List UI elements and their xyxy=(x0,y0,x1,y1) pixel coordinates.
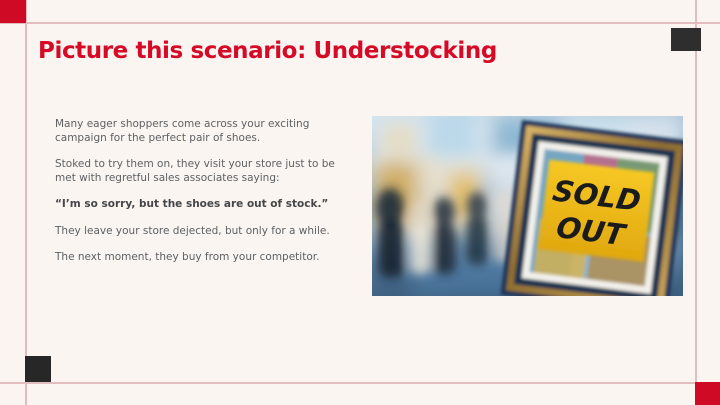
paragraph-1: Many eager shoppers come across your exc… xyxy=(55,118,350,145)
paragraph-4: They leave your store dejected, but only… xyxy=(55,225,350,239)
sold-out-sign-photo: SOLD OUT xyxy=(372,116,683,296)
corner-block-red-bottom-right xyxy=(695,382,720,405)
slide-title: Picture this scenario: Understocking xyxy=(38,38,497,64)
corner-block-red-top-left xyxy=(0,0,26,23)
frame-line-right xyxy=(695,0,697,405)
corner-block-dark-bottom-left xyxy=(25,356,51,382)
paragraph-5: The next moment, they buy from your comp… xyxy=(55,251,350,265)
paragraph-2: Stoked to try them on, they visit your s… xyxy=(55,158,350,185)
frame-line-bottom xyxy=(0,382,720,384)
frame-line-left xyxy=(25,0,27,405)
frame-line-top xyxy=(0,22,720,24)
body-text-column: Many eager shoppers come across your exc… xyxy=(55,118,350,265)
paragraph-quote: “I’m so sorry, but the shoes are out of … xyxy=(55,198,350,212)
corner-block-dark-top-right xyxy=(671,28,701,51)
slide-root: Picture this scenario: Understocking Man… xyxy=(0,0,720,405)
